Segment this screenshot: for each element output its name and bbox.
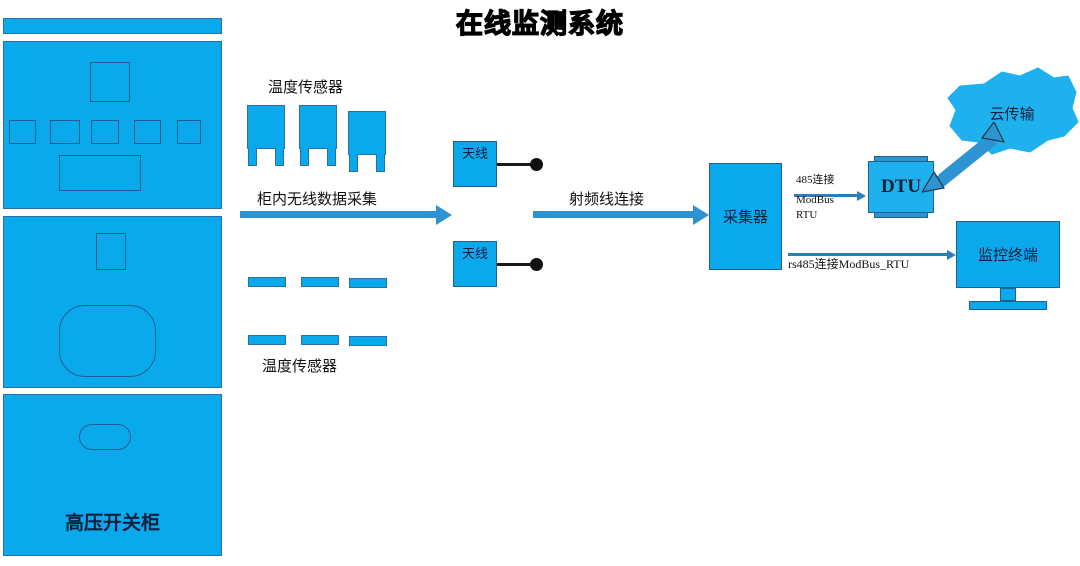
antenna-bottom: 天线: [453, 241, 497, 287]
temperature-probe-sensor: [299, 105, 337, 165]
temperature-bar-sensor: [349, 336, 387, 346]
dtu-bottom-edge: [874, 212, 928, 218]
arrow-shaft: [240, 211, 436, 218]
rs485-top-label-line1: 485连接: [796, 174, 835, 187]
dtu-cloud-arrow: [920, 118, 1006, 194]
cabinet-label: 高压开关柜: [0, 508, 225, 535]
wireless-flow-arrow: [240, 205, 452, 225]
cabinet-upper-nameplate: [59, 155, 141, 191]
temperature-probe-sensor: [348, 111, 386, 171]
double-arrow-shape: [920, 118, 1006, 194]
cabinet-upper-meter: [90, 62, 130, 102]
probe-leg-left: [248, 148, 257, 166]
rs485-top-label-line3: RTU: [796, 209, 817, 222]
probe-body: [299, 105, 337, 149]
probe-leg-left: [300, 148, 309, 166]
antenna-bottom-terminal: [530, 258, 543, 271]
collector-node: 采集器: [709, 163, 782, 270]
cabinet-top-vent: [3, 18, 222, 34]
monitor-node: 监控终端: [956, 221, 1060, 316]
cabinet-middle-meter: [96, 233, 126, 270]
rs485-top-label-line2: ModBus: [796, 194, 834, 207]
monitor-screen: 监控终端: [956, 221, 1060, 288]
probe-leg-right: [376, 154, 385, 172]
cabinet-lower-handle: [79, 424, 131, 450]
bar-sensor-group-label: 温度传感器: [262, 355, 337, 376]
probe-leg-right: [327, 148, 336, 166]
antenna-top-label: 天线: [462, 147, 488, 162]
arrow-head: [436, 205, 452, 225]
monitor-stand-neck: [1000, 288, 1016, 301]
monitor-label: 监控终端: [978, 244, 1038, 265]
monitor-stand-base: [969, 301, 1047, 310]
arrow-head: [947, 250, 956, 260]
arrow-shaft: [533, 211, 693, 218]
dtu-label: DTU: [881, 176, 921, 198]
temperature-bar-sensor: [301, 277, 339, 287]
arrow-head: [693, 205, 709, 225]
probe-leg-left: [349, 154, 358, 172]
probe-sensor-group-label: 温度传感器: [268, 76, 343, 97]
arrow-shaft: [788, 253, 947, 256]
diagram-canvas: 在线监测系统 高压开关柜 温度传感器 柜内无线数据采集 温度传: [0, 0, 1080, 566]
temperature-bar-sensor: [349, 278, 387, 288]
cabinet-upper-indicator-5: [177, 120, 201, 144]
temperature-bar-sensor: [248, 277, 286, 287]
antenna-top-terminal: [530, 158, 543, 171]
collector-label: 采集器: [723, 206, 768, 227]
cabinet-upper-indicator-3: [91, 120, 119, 144]
cabinet-upper-indicator-1: [9, 120, 36, 144]
probe-body: [247, 105, 285, 149]
temperature-bar-sensor: [301, 335, 339, 345]
cabinet-upper-indicator-2: [50, 120, 80, 144]
rs485-bottom-label: rs485连接ModBus_RTU: [788, 258, 909, 271]
rf-flow-arrow: [533, 205, 709, 225]
cabinet-middle-breaker: [59, 305, 156, 377]
probe-leg-right: [275, 148, 284, 166]
antenna-top: 天线: [453, 141, 497, 187]
temperature-bar-sensor: [248, 335, 286, 345]
antenna-bottom-label: 天线: [462, 247, 488, 262]
cabinet-upper-indicator-4: [134, 120, 161, 144]
probe-body: [348, 111, 386, 155]
arrow-head: [857, 191, 866, 201]
temperature-probe-sensor: [247, 105, 285, 165]
